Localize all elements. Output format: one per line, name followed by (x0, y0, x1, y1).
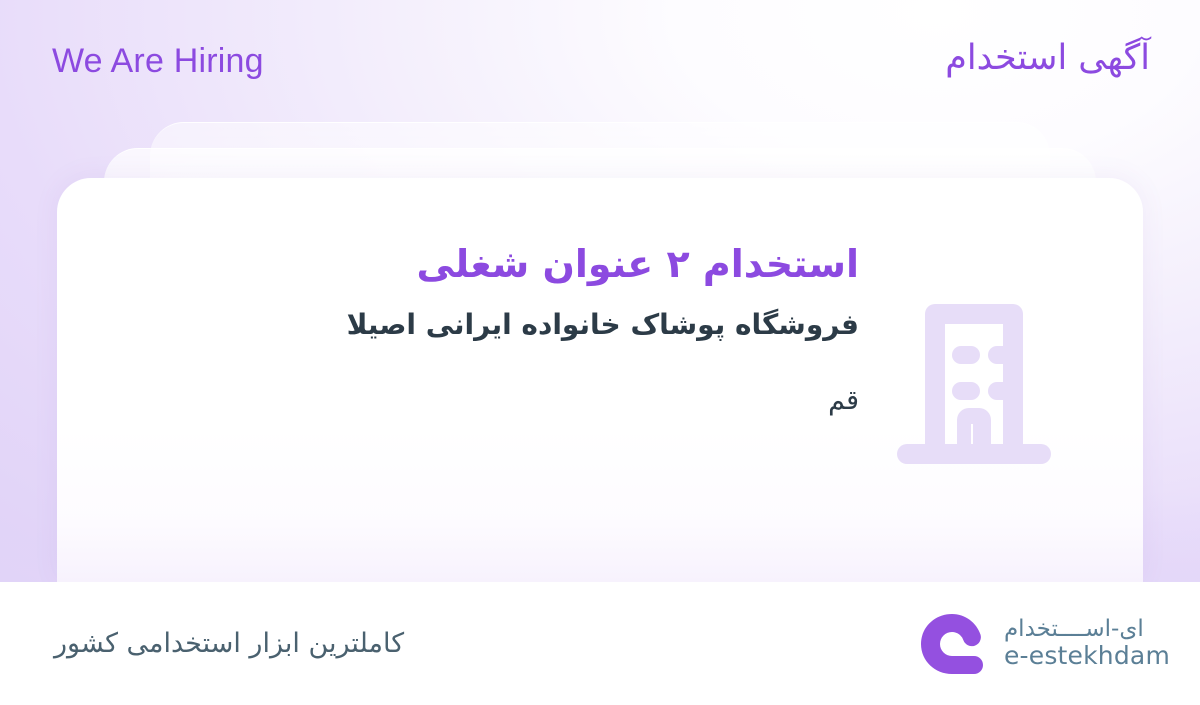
brand-name-english: e-estekhdam (1004, 642, 1170, 670)
header-persian-label: آگهی استخدام (945, 38, 1150, 78)
poster-header: We Are Hiring آگهی استخدام (0, 0, 1200, 120)
brand-name-persian: ای-اســــتخدام (1004, 617, 1144, 642)
job-location: قم (111, 382, 859, 420)
job-card-text: استخدام ۲ عنوان شغلی فروشگاه پوشاک خانوا… (111, 230, 859, 420)
brand-wordmark: ای-اســــتخدام e-estekhdam (1004, 617, 1170, 670)
job-title: استخدام ۲ عنوان شغلی (111, 238, 859, 290)
footer-tagline: کاملترین ابزار استخدامی کشور (54, 628, 404, 659)
company-name: فروشگاه پوشاک خانواده ایرانی اصیلا (111, 304, 859, 346)
job-card[interactable]: استخدام ۲ عنوان شغلی فروشگاه پوشاک خانوا… (57, 178, 1143, 582)
building-icon (895, 292, 1053, 467)
e-logo-icon (916, 611, 988, 677)
header-english-label: We Are Hiring (52, 42, 264, 81)
poster-footer: کاملترین ابزار استخدامی کشور ای-اســــتخ… (0, 582, 1200, 705)
brand-lockup[interactable]: ای-اســــتخدام e-estekhdam (916, 611, 1170, 677)
job-ad-poster: We Are Hiring آگهی استخدام استخدام ۲ عنو… (0, 0, 1200, 705)
job-card-body: استخدام ۲ عنوان شغلی فروشگاه پوشاک خانوا… (57, 178, 1143, 582)
company-logo-placeholder (859, 230, 1089, 467)
